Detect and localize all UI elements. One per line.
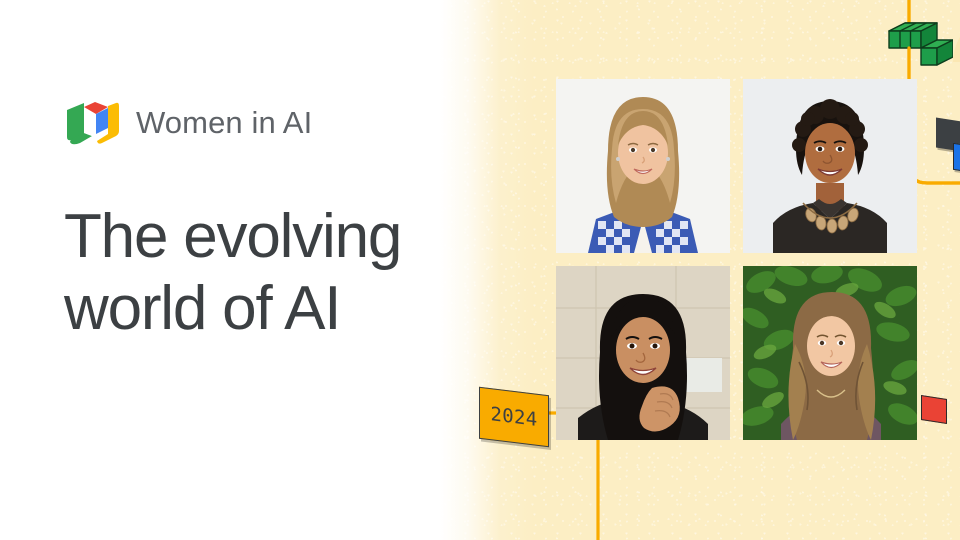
slide-canvas: 2024 Women in AI The — [0, 0, 960, 540]
speaker-photo-1 — [556, 79, 730, 253]
year-badge-label: 2024 — [479, 387, 549, 448]
brand-name-label: Women in AI — [136, 105, 312, 141]
year-badge: 2024 — [479, 391, 549, 443]
red-square-shape — [921, 395, 947, 424]
speaker-photo-2 — [743, 79, 917, 253]
brand-lockup: Women in AI — [64, 100, 464, 146]
page-title: The evolving world of AI — [64, 201, 464, 345]
page-title-line-1: The evolving — [64, 202, 401, 271]
speaker-photo-3 — [556, 266, 730, 440]
page-title-line-2: world of AI — [64, 274, 340, 343]
speaker-photo-grid — [556, 79, 917, 440]
speaker-photo-4 — [743, 266, 917, 440]
women-in-ai-cube-logo-icon — [64, 101, 119, 145]
title-block: Women in AI The evolving world of AI — [64, 100, 464, 345]
